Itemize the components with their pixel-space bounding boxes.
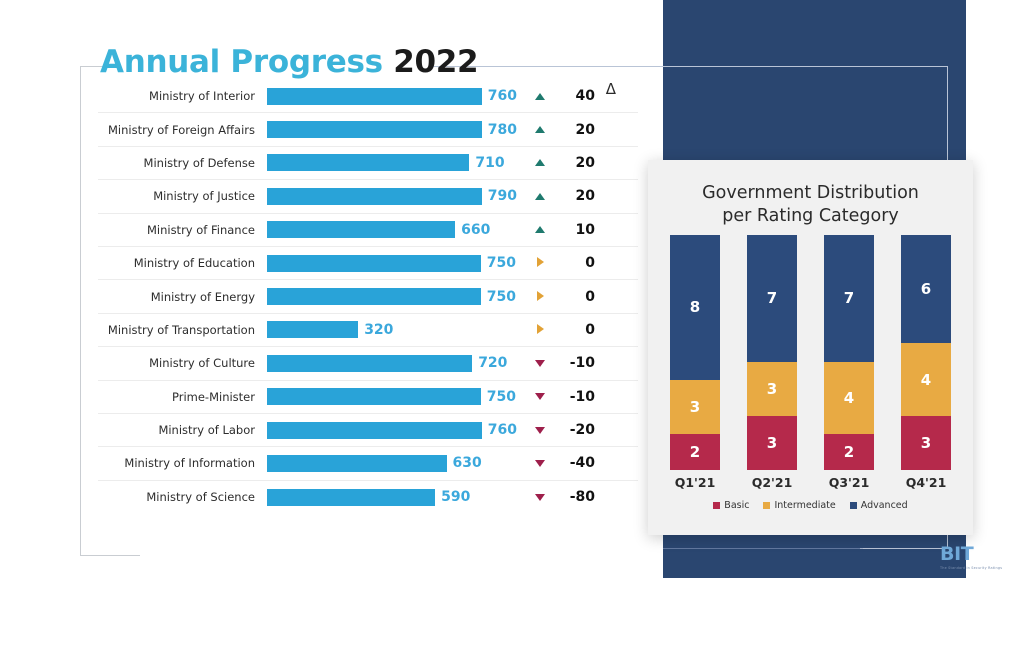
segment-basic: 2: [670, 434, 720, 470]
row-bar-container: 760: [267, 80, 517, 113]
row-label: Ministry of Labor: [98, 423, 267, 437]
triangle-down: [535, 393, 545, 400]
x-axis-tick: Q3'21: [824, 475, 874, 490]
legend-item-intermediate[interactable]: Intermediate: [763, 500, 835, 511]
triangle-down: [535, 460, 545, 467]
row-bar: [267, 422, 482, 439]
row-value: 630: [453, 455, 482, 471]
triangle-up: [535, 226, 545, 233]
table-row[interactable]: Ministry of Culture720-10: [98, 347, 638, 380]
row-bar: [267, 221, 455, 238]
row-bar-container: 750: [267, 280, 517, 313]
logo-text-sight: SIGHT: [973, 543, 1024, 565]
row-label: Ministry of Energy: [98, 290, 267, 304]
frame-bracket-left: [80, 66, 81, 556]
triangle-up: [535, 159, 545, 166]
stacked-bar-column[interactable]: 832: [670, 235, 720, 470]
legend-label: Basic: [724, 500, 749, 511]
legend-item-basic[interactable]: Basic: [713, 500, 749, 511]
row-bar: [267, 255, 481, 272]
row-label: Ministry of Justice: [98, 189, 267, 203]
trend-up-icon: [517, 91, 563, 102]
segment-basic: 2: [824, 434, 874, 470]
table-row[interactable]: Ministry of Defense71020: [98, 147, 638, 180]
row-bar-container: 630: [267, 447, 517, 480]
row-bar: [267, 154, 469, 171]
row-label: Ministry of Defense: [98, 156, 267, 170]
row-bar: [267, 388, 481, 405]
row-delta: -10: [563, 389, 615, 405]
segment-intermediate: 4: [901, 343, 951, 415]
row-label: Ministry of Interior: [98, 89, 267, 103]
table-row[interactable]: Ministry of Science590-80: [98, 481, 638, 514]
row-value: 790: [488, 188, 517, 204]
row-bar-container: 750: [267, 380, 517, 413]
row-bar: [267, 188, 482, 205]
row-bar: [267, 121, 482, 138]
page-title-year: 2022: [393, 44, 478, 80]
trend-down-icon: [517, 358, 563, 369]
table-row[interactable]: Ministry of Information630-40: [98, 447, 638, 480]
row-delta: 0: [563, 289, 615, 305]
stacked-bar-column[interactable]: 643: [901, 235, 951, 470]
triangle-down: [535, 360, 545, 367]
row-label: Ministry of Science: [98, 490, 267, 504]
row-bar: [267, 355, 472, 372]
row-label: Ministry of Culture: [98, 356, 267, 370]
row-delta: 10: [563, 222, 615, 238]
table-row[interactable]: Ministry of Education7500: [98, 247, 638, 280]
triangle-flat: [537, 291, 544, 301]
row-delta: -20: [563, 422, 615, 438]
stacked-bar-plot: 832733742643: [670, 235, 951, 470]
row-bar: [267, 288, 481, 305]
row-value: 760: [488, 422, 517, 438]
trend-up-icon: [517, 124, 563, 135]
row-bar: [267, 88, 482, 105]
trend-up-icon: [517, 224, 563, 235]
stacked-bar-column[interactable]: 742: [824, 235, 874, 470]
triangle-down: [535, 494, 545, 501]
triangle-flat: [537, 257, 544, 267]
row-bar-container: 590: [267, 481, 517, 514]
row-delta: 40: [563, 88, 615, 104]
row-value: 720: [478, 355, 507, 371]
table-row[interactable]: Ministry of Labor760-20: [98, 414, 638, 447]
row-bar-container: 320: [267, 313, 517, 346]
row-bar-container: 780: [267, 113, 517, 146]
row-value: 780: [488, 122, 517, 138]
trend-flat-icon: [517, 324, 563, 336]
row-bar-container: 760: [267, 413, 517, 446]
x-axis-tick: Q1'21: [670, 475, 720, 490]
segment-intermediate: 3: [747, 362, 797, 416]
trend-flat-icon: [517, 291, 563, 303]
chart-title: Government Distribution per Rating Categ…: [648, 182, 973, 229]
row-delta: 20: [563, 122, 615, 138]
row-delta: 20: [563, 188, 615, 204]
row-value: 320: [364, 322, 393, 338]
segment-basic: 3: [747, 416, 797, 470]
rating-distribution-card: Government Distribution per Rating Categ…: [648, 160, 973, 535]
row-delta: 0: [563, 255, 615, 271]
x-axis-tick: Q2'21: [747, 475, 797, 490]
table-row[interactable]: Ministry of Energy7500: [98, 280, 638, 313]
trend-down-icon: [517, 425, 563, 436]
segment-intermediate: 4: [824, 362, 874, 434]
row-bar-container: 720: [267, 347, 517, 380]
footer-rule: [663, 548, 863, 549]
chart-x-axis: Q1'21Q2'21Q3'21Q4'21: [670, 475, 951, 490]
row-value: 760: [488, 88, 517, 104]
row-label: Ministry of Foreign Affairs: [98, 123, 267, 137]
row-value: 750: [487, 289, 516, 305]
trend-flat-icon: [517, 257, 563, 269]
trend-up-icon: [517, 191, 563, 202]
logo-text-bit: BIT: [940, 543, 973, 565]
legend-swatch-basic: [713, 502, 720, 509]
page-title: Annual Progress 2022: [100, 44, 478, 80]
row-label: Ministry of Transportation: [98, 323, 267, 337]
row-value: 710: [475, 155, 504, 171]
frame-bracket-bottom-left: [80, 555, 140, 556]
trend-up-icon: [517, 157, 563, 168]
table-row[interactable]: Ministry of Transportation3200: [98, 314, 638, 347]
triangle-flat: [537, 324, 544, 334]
table-body: Ministry of Interior76040Ministry of For…: [98, 80, 638, 514]
chart-title-line2: per Rating Category: [666, 205, 955, 228]
chart-title-line1: Government Distribution: [666, 182, 955, 205]
row-bar-container: 710: [267, 146, 517, 179]
triangle-up: [535, 93, 545, 100]
row-delta: -80: [563, 489, 615, 505]
table-row[interactable]: Ministry of Foreign Affairs78020: [98, 113, 638, 146]
frame-bracket-top-right: [430, 66, 948, 67]
row-bar: [267, 321, 358, 338]
triangle-up: [535, 193, 545, 200]
legend-swatch-intermediate: [763, 502, 770, 509]
logo-tagline: The Standard in Security Ratings: [940, 566, 1024, 570]
row-label: Ministry of Information: [98, 456, 267, 470]
row-delta: -10: [563, 355, 615, 371]
table-row[interactable]: Ministry of Finance66010: [98, 214, 638, 247]
row-value: 660: [461, 222, 490, 238]
legend-label: Intermediate: [774, 500, 835, 511]
segment-advanced: 8: [670, 235, 720, 380]
trend-down-icon: [517, 492, 563, 503]
page-title-main: Annual Progress: [100, 44, 383, 80]
chart-legend: BasicIntermediateAdvanced: [648, 500, 973, 511]
triangle-down: [535, 427, 545, 434]
row-label: Ministry of Education: [98, 256, 267, 270]
row-bar: [267, 489, 435, 506]
trend-down-icon: [517, 391, 563, 402]
segment-advanced: 7: [747, 235, 797, 362]
frame-bracket-bottom-right: [860, 548, 948, 549]
segment-intermediate: 3: [670, 380, 720, 434]
row-label: Ministry of Finance: [98, 223, 267, 237]
row-bar-container: 790: [267, 180, 517, 213]
row-label: Prime-Minister: [98, 390, 267, 404]
annual-progress-table: Δ Ministry of Interior76040Ministry of F…: [98, 80, 638, 514]
trend-down-icon: [517, 458, 563, 469]
bitsight-logo: BITSIGHT The Standard in Security Rating…: [940, 545, 1024, 570]
table-row[interactable]: Prime-Minister750-10: [98, 381, 638, 414]
stacked-bar-column[interactable]: 733: [747, 235, 797, 470]
row-value: 590: [441, 489, 470, 505]
row-delta: -40: [563, 455, 615, 471]
x-axis-tick: Q4'21: [901, 475, 951, 490]
segment-advanced: 7: [824, 235, 874, 362]
legend-swatch-advanced: [850, 502, 857, 509]
triangle-up: [535, 126, 545, 133]
segment-basic: 3: [901, 416, 951, 470]
table-row[interactable]: Ministry of Interior76040: [98, 80, 638, 113]
row-value: 750: [487, 255, 516, 271]
bitsight-wordmark: BITSIGHT: [940, 545, 1024, 564]
row-bar: [267, 455, 447, 472]
row-delta: 20: [563, 155, 615, 171]
segment-advanced: 6: [901, 235, 951, 343]
row-delta: 0: [563, 322, 615, 338]
legend-item-advanced[interactable]: Advanced: [850, 500, 908, 511]
legend-label: Advanced: [861, 500, 908, 511]
row-value: 750: [487, 389, 516, 405]
table-row[interactable]: Ministry of Justice79020: [98, 180, 638, 213]
row-bar-container: 660: [267, 213, 517, 246]
row-bar-container: 750: [267, 246, 517, 279]
